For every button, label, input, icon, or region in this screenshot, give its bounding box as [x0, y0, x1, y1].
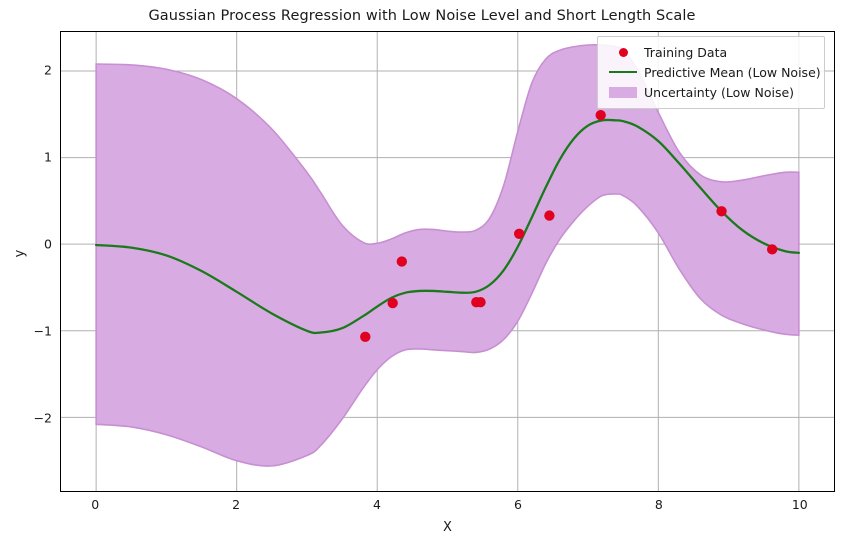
training-data-point — [767, 244, 777, 254]
training-data-point — [544, 210, 554, 220]
patch-swatch-icon — [606, 84, 640, 100]
chart-legend: Training Data Predictive Mean (Low Noise… — [597, 36, 825, 109]
training-data-point — [388, 298, 398, 308]
training-data-point — [360, 332, 370, 342]
legend-label: Predictive Mean (Low Noise) — [644, 65, 821, 80]
x-tick-label: 2 — [216, 497, 256, 512]
x-axis-label: X — [60, 520, 835, 535]
marker-dot-icon — [606, 44, 640, 60]
y-axis-label: y — [13, 224, 28, 284]
x-axis-ticks: 0246810 — [60, 497, 835, 519]
training-data-point — [596, 110, 606, 120]
y-tick-label: −2 — [18, 411, 52, 426]
line-swatch-icon — [606, 64, 640, 80]
legend-label: Training Data — [644, 45, 727, 60]
training-data-point — [514, 229, 524, 239]
y-tick-label: −1 — [18, 324, 52, 339]
x-tick-label: 8 — [639, 497, 679, 512]
training-data-point — [475, 297, 485, 307]
training-data-point — [397, 256, 407, 266]
x-tick-label: 6 — [498, 497, 538, 512]
y-tick-label: 2 — [18, 63, 52, 78]
x-tick-label: 0 — [75, 497, 115, 512]
legend-label: Uncertainty (Low Noise) — [644, 85, 794, 100]
chart-figure: Gaussian Process Regression with Low Noi… — [0, 0, 844, 547]
y-tick-label: 1 — [18, 150, 52, 165]
legend-item-training-data: Training Data — [606, 42, 816, 62]
page-title: Gaussian Process Regression with Low Noi… — [0, 8, 844, 24]
legend-item-uncertainty: Uncertainty (Low Noise) — [606, 82, 816, 102]
training-data-point — [716, 206, 726, 216]
x-tick-label: 4 — [357, 497, 397, 512]
legend-item-predictive-mean: Predictive Mean (Low Noise) — [606, 62, 816, 82]
x-tick-label: 10 — [780, 497, 820, 512]
